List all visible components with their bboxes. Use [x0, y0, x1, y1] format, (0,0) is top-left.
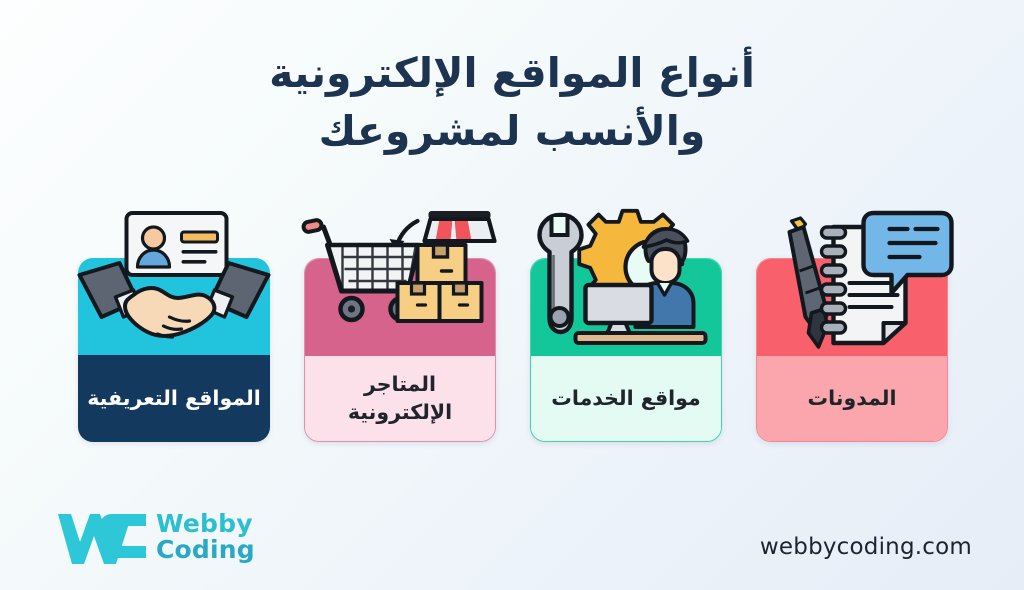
card-body: المتاجر الإلكترونية: [304, 258, 496, 442]
card-label-band: مواقع الخدمات: [531, 356, 721, 441]
title-line-1: أنواع المواقع الإلكترونية: [0, 44, 1024, 102]
website-url[interactable]: webbycoding.com: [760, 534, 972, 560]
card-label-band: المتاجر الإلكترونية: [305, 356, 495, 441]
title-line-2: والأنسب لمشروعك: [0, 102, 1024, 160]
card-top-band: [305, 259, 495, 356]
wc-monogram-icon: [56, 506, 148, 568]
card-top-band: [531, 259, 721, 356]
card-label-band: المدونات: [757, 356, 947, 441]
brand-logo-text: Webby Coding: [156, 511, 255, 564]
brand-logo[interactable]: Webby Coding: [56, 506, 255, 568]
card-label-band: المواقع التعريفية: [78, 355, 270, 442]
card-label: مواقع الخدمات: [545, 385, 706, 412]
card-body: مواقع الخدمات: [530, 258, 722, 442]
card-label: المواقع التعريفية: [81, 385, 267, 412]
brand-logo-line-2: Coding: [156, 537, 255, 564]
card-body: المدونات: [756, 258, 948, 442]
card-body: المواقع التعريفية: [78, 258, 270, 442]
infographic-canvas: أنواع المواقع الإلكترونية والأنسب لمشروع…: [0, 0, 1024, 590]
shop-awning: [425, 211, 495, 241]
card-blogs[interactable]: المدونات: [756, 258, 948, 442]
page-title: أنواع المواقع الإلكترونية والأنسب لمشروع…: [0, 44, 1024, 160]
card-top-band: [78, 258, 270, 355]
website-types-card-list: المواقع التعريفية: [78, 258, 948, 442]
brand-logo-line-1: Webby: [156, 511, 255, 538]
card-top-band: [757, 259, 947, 356]
card-label: المتاجر الإلكترونية: [305, 371, 495, 426]
card-informational-websites[interactable]: المواقع التعريفية: [78, 258, 270, 442]
card-service-websites[interactable]: مواقع الخدمات: [530, 258, 722, 442]
card-label: المدونات: [801, 385, 902, 412]
card-ecommerce-stores[interactable]: المتاجر الإلكترونية: [304, 258, 496, 442]
